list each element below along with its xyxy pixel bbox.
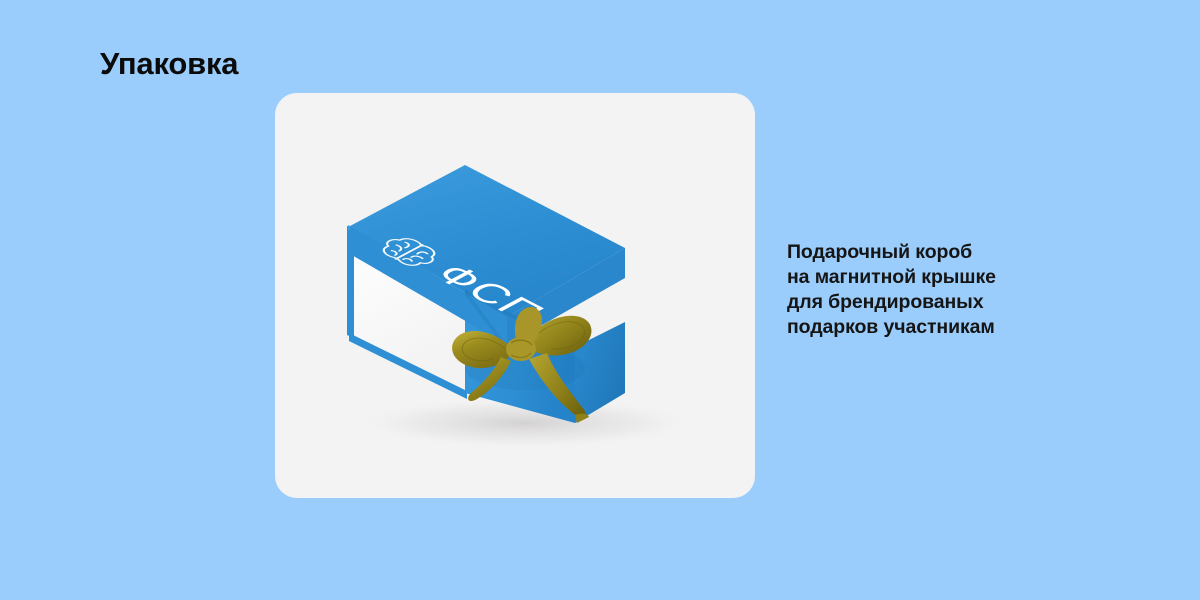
caption-line: для брендированых [787,290,1117,315]
gift-box-illustration: ФСП [275,93,755,498]
gift-box-image: ФСП [275,93,755,498]
slide-root: Упаковка [0,0,1200,600]
caption-line: на магнитной крышке [787,265,1117,290]
product-caption: Подарочный короб на магнитной крышке для… [787,240,1117,340]
caption-line: подарков участникам [787,315,1117,340]
page-title: Упаковка [100,47,238,81]
product-photo-card: ФСП [275,93,755,498]
caption-line: Подарочный короб [787,240,1117,265]
